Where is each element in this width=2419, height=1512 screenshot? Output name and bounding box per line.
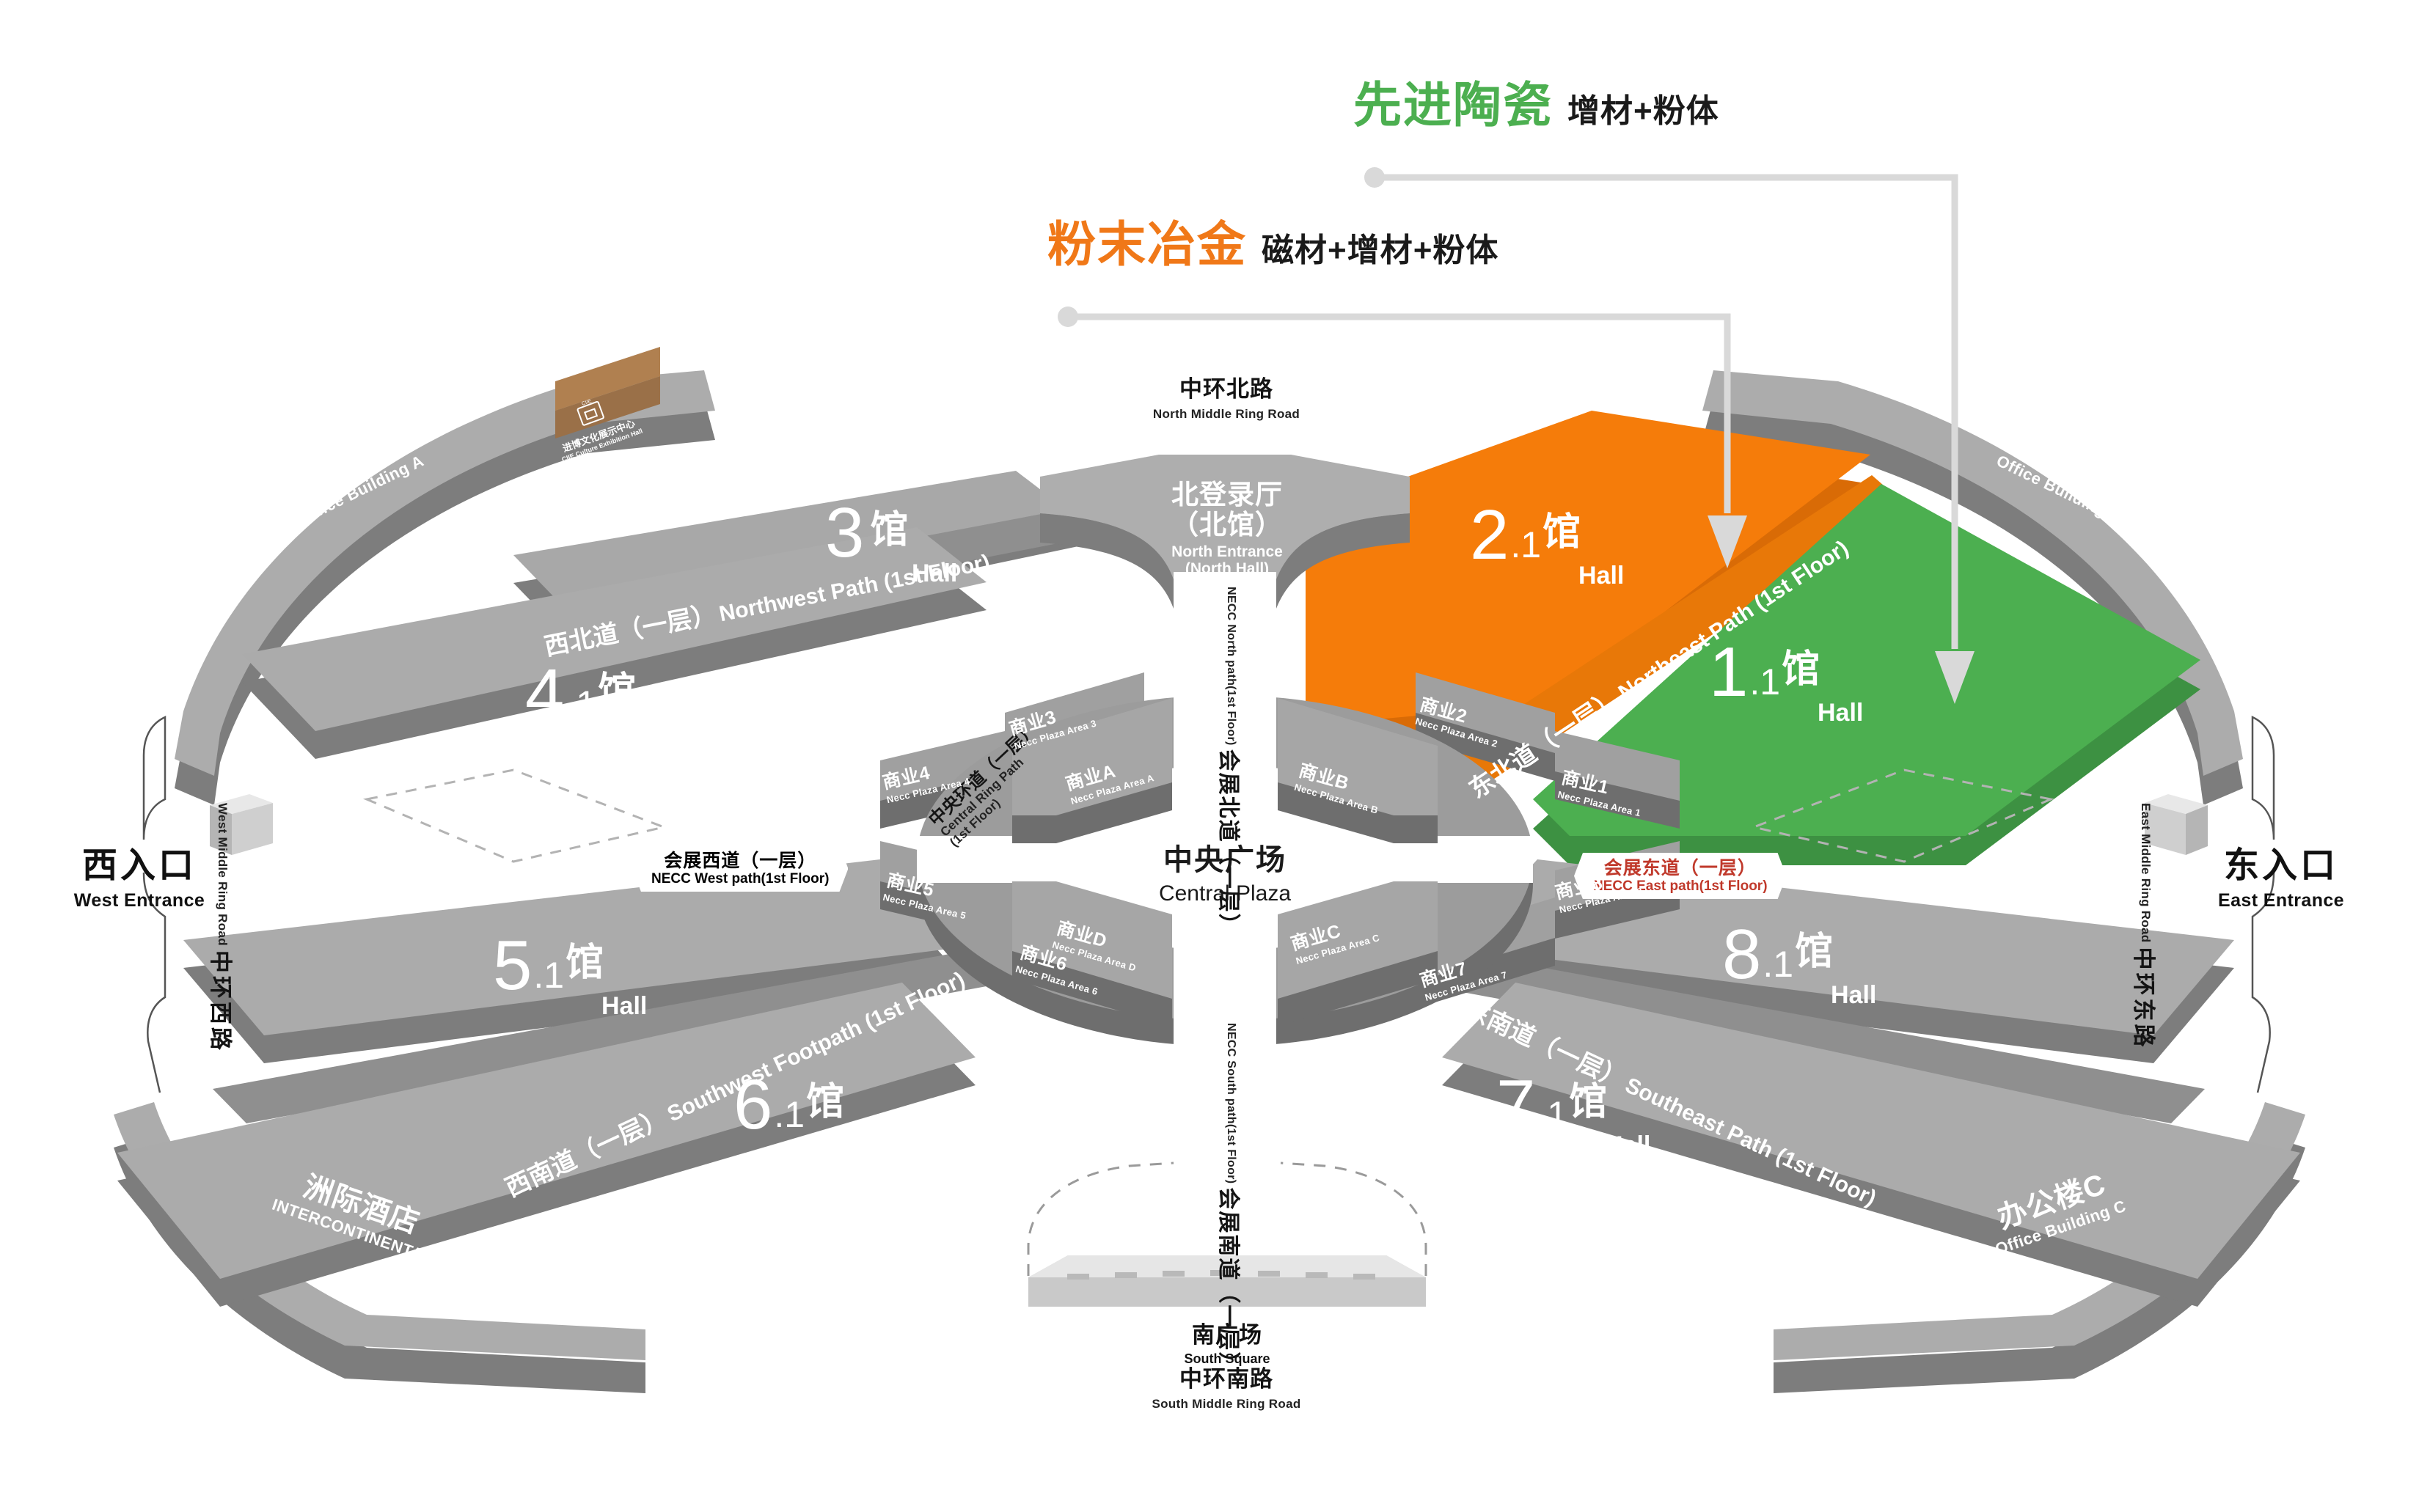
north-hall-en-1: North Entrance xyxy=(1113,543,1341,560)
hall-4-num: 4 xyxy=(525,664,564,725)
hall-1-dec: .1 xyxy=(1749,661,1780,703)
entrance-east-en: East Entrance xyxy=(2218,890,2344,911)
entrance-west-en: West Entrance xyxy=(74,890,205,911)
hall-3-num: 3 xyxy=(825,503,864,564)
necc-south-path-en: NECC South path(1st Floor) xyxy=(1224,1023,1237,1183)
hall-7-dec: .1 xyxy=(1537,1093,1567,1136)
hall-5-en: Hall xyxy=(601,992,647,1021)
exhibition-floor-plan: 先进陶瓷 增材+粉体 粉末冶金 磁材+增材+粉体 中环北路 North Midd… xyxy=(0,0,2419,1512)
road-east: East Middle Ring Road 中环东路 xyxy=(2129,803,2162,1049)
necc-south-path-cn: 会展南道（一层） xyxy=(1215,1187,1247,1375)
hall-7-en: Hall xyxy=(1605,1131,1650,1160)
north-hall-cn-1: 北登录厅 xyxy=(1113,480,1341,510)
hall-8-en: Hall xyxy=(1831,981,1876,1010)
entrance-west-cn: 西入口 xyxy=(82,836,197,887)
hall-7-num: 7 xyxy=(1496,1075,1535,1136)
hall-label-2[interactable]: 2 .1 馆 Hall xyxy=(1470,501,1624,590)
callout-subtitle-ceramics: 增材+粉体 xyxy=(1567,84,1719,131)
hall-1-num: 1 xyxy=(1709,642,1748,703)
entrance-west[interactable]: 西入口 West Entrance xyxy=(44,836,235,911)
hall-8-cn: 馆 xyxy=(1795,920,1833,975)
callout-subtitle-metallurgy: 磁材+增材+粉体 xyxy=(1262,224,1498,271)
hall-2-num: 2 xyxy=(1470,505,1509,566)
hall-6-cn: 馆 xyxy=(806,1071,844,1126)
hall-5-cn: 馆 xyxy=(566,931,604,986)
hall-5-num: 5 xyxy=(493,936,532,997)
hall-label-4[interactable]: 4 .1 馆 Hall xyxy=(525,660,679,749)
hall-4-cn: 馆 xyxy=(598,660,636,715)
road-east-en: East Middle Ring Road xyxy=(2139,803,2153,942)
north-hall-en-2: (North Hall) xyxy=(1113,560,1341,577)
necc-north-path-cn: 会展北道（一层） xyxy=(1215,749,1247,937)
road-west-cn: 中环西路 xyxy=(206,950,239,1053)
hall-8-num: 8 xyxy=(1722,925,1761,986)
hall-1-cn: 馆 xyxy=(1782,638,1820,693)
hall-2-en: Hall xyxy=(1578,562,1624,590)
necc-west-path-box[interactable]: 会展西道（一层） NECC West path(1st Floor) xyxy=(632,845,848,892)
hall-2-dec: .1 xyxy=(1510,524,1541,566)
entrance-east-cn: 东入口 xyxy=(2224,836,2338,887)
necc-west-path-cn: 会展西道（一层） xyxy=(651,851,829,871)
road-south-en: South Middle Ring Road xyxy=(1152,1397,1300,1412)
hall-6-dec: .1 xyxy=(774,1093,805,1136)
hall-6-en: Hall xyxy=(842,1131,888,1160)
north-entrance-hall-label[interactable]: 北登录厅 （北馆） North Entrance (North Hall) xyxy=(1113,480,1341,578)
callout-title-ceramics: 先进陶瓷 xyxy=(1353,66,1553,136)
road-north-cn: 中环北路 xyxy=(1179,370,1273,403)
callout-title-metallurgy: 粉末冶金 xyxy=(1047,205,1247,276)
hall-label-5[interactable]: 5 .1 馆 Hall xyxy=(493,931,647,1021)
entrance-east[interactable]: 东入口 East Entrance xyxy=(2186,836,2376,911)
necc-north-path-label[interactable]: NECC North path(1st Floor) 会展北道（一层） xyxy=(1215,587,1247,937)
hall-label-1[interactable]: 1 .1 馆 Hall xyxy=(1709,638,1863,727)
hall-4-dec: .1 xyxy=(566,683,596,725)
necc-south-path-label[interactable]: NECC South path(1st Floor) 会展南道（一层） xyxy=(1215,1023,1247,1375)
road-north-en: North Middle Ring Road xyxy=(1153,407,1300,422)
necc-west-path-en: NECC West path(1st Floor) xyxy=(651,871,829,887)
hall-label-8[interactable]: 8 .1 馆 Hall xyxy=(1722,920,1876,1010)
callout-advanced-ceramics: 先进陶瓷 增材+粉体 xyxy=(1353,66,1719,136)
hall-1-en: Hall xyxy=(1818,699,1863,727)
road-east-cn: 中环东路 xyxy=(2129,947,2162,1049)
callout-powder-metallurgy: 粉末冶金 磁材+增材+粉体 xyxy=(1047,205,1498,276)
hall-5-dec: .1 xyxy=(533,954,564,997)
hall-3-cn: 馆 xyxy=(870,499,908,554)
hall-8-dec: .1 xyxy=(1763,943,1793,986)
hall-4-en: Hall xyxy=(634,721,679,749)
dashed-plot-west xyxy=(367,770,664,862)
road-north: 中环北路 North Middle Ring Road xyxy=(1116,370,1336,422)
north-hall-cn-2: （北馆） xyxy=(1113,510,1341,540)
hall-2-cn: 馆 xyxy=(1542,501,1581,556)
necc-north-path-en: NECC North path(1st Floor) xyxy=(1224,587,1237,746)
